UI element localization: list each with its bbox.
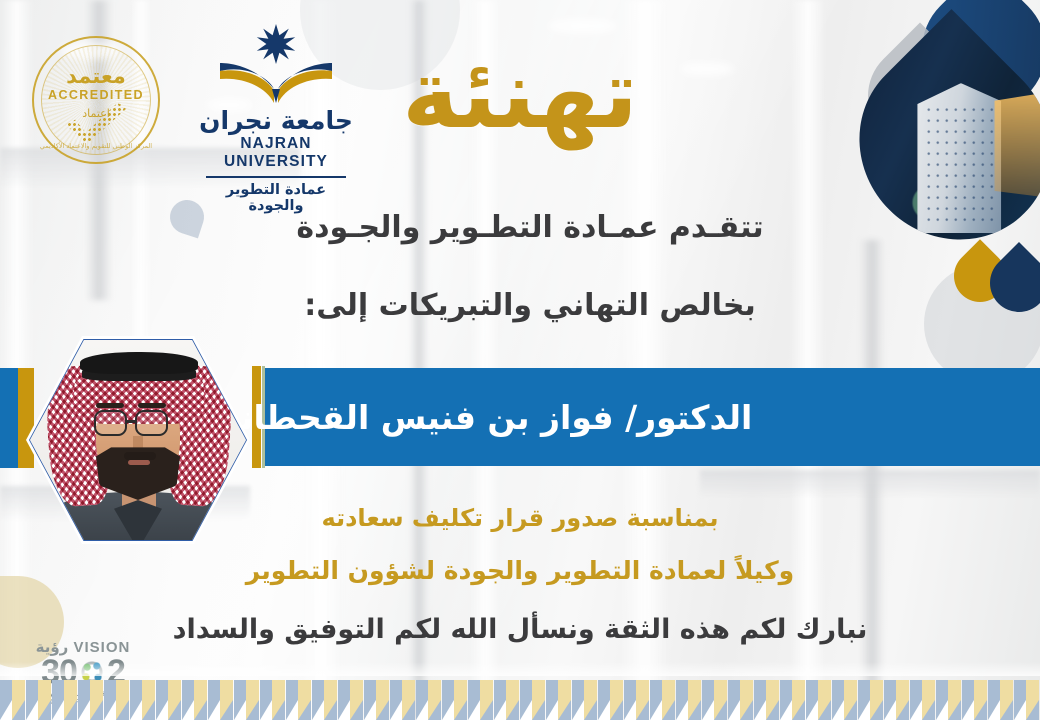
congratulation-card: معتمد ACCREDITED اعتماد المركز الوطني لل… <box>0 0 1040 720</box>
headline-line-2: بخالص التهاني والتبريكات إلى: <box>140 288 920 323</box>
background-ceiling-light <box>548 18 618 34</box>
pattern-unit <box>442 676 468 720</box>
pattern-unit <box>260 676 286 720</box>
portrait-igal <box>80 352 198 374</box>
building-windows <box>924 104 995 227</box>
pattern-unit <box>988 676 1014 720</box>
pattern-unit <box>624 676 650 720</box>
pattern-unit <box>520 676 546 720</box>
pattern-unit <box>650 676 676 720</box>
pattern-unit <box>0 676 26 720</box>
pattern-unit <box>754 676 780 720</box>
pattern-unit <box>858 676 884 720</box>
bottom-fade <box>0 662 1040 676</box>
pattern-unit <box>806 676 832 720</box>
body-gold-line-1: بمناسبة صدور قرار تكليف سعادته <box>120 504 920 532</box>
pattern-unit <box>468 676 494 720</box>
background-streak <box>790 0 826 720</box>
portrait-glasses-bridge <box>127 420 135 423</box>
pattern-unit <box>832 676 858 720</box>
pattern-unit <box>390 676 416 720</box>
pattern-unit <box>884 676 910 720</box>
page-title-calligraphy: تهنئة <box>300 34 740 154</box>
pattern-unit <box>910 676 936 720</box>
pattern-unit <box>962 676 988 720</box>
pattern-unit <box>416 676 442 720</box>
pattern-unit <box>26 676 52 720</box>
deanship-name: عمادة التطوير والجودة <box>196 182 356 214</box>
pattern-unit <box>286 676 312 720</box>
pattern-unit <box>156 676 182 720</box>
top-right-decoration <box>850 0 1040 304</box>
pattern-unit <box>104 676 130 720</box>
portrait-eyebrow-left <box>96 403 124 408</box>
headline-line-1: تتقـدم عمـادة التطـوير والجـودة <box>140 210 920 245</box>
pattern-unit <box>52 676 78 720</box>
pattern-unit <box>338 676 364 720</box>
portrait-lips <box>128 460 150 465</box>
building-glow <box>994 90 1040 200</box>
badge-title-arabic: معتمد <box>32 64 160 88</box>
pattern-unit <box>78 676 104 720</box>
badge-title-english: ACCREDITED <box>32 88 160 102</box>
pattern-unit <box>312 676 338 720</box>
pattern-unit <box>546 676 572 720</box>
pattern-unit <box>728 676 754 720</box>
body-gold-line-2: وكيلاً لعمادة التطوير والجودة لشؤون التط… <box>120 556 920 585</box>
pattern-unit <box>676 676 702 720</box>
pattern-unit <box>130 676 156 720</box>
pattern-unit <box>598 676 624 720</box>
pattern-unit <box>702 676 728 720</box>
closing-line: نبارك لكم هذه الثقة ونسأل الله لكم التوف… <box>120 614 920 645</box>
bottom-geometric-border <box>0 676 1040 720</box>
portrait-glasses-left <box>94 410 127 436</box>
building-tower <box>917 83 1001 233</box>
badge-label-arabic: اعتماد <box>32 107 160 120</box>
pattern-unit <box>936 676 962 720</box>
pattern-unit <box>1014 676 1040 720</box>
pattern-unit <box>364 676 390 720</box>
badge-authority-text: المركز الوطني للتقويم والاعتماد الأكاديم… <box>32 142 160 150</box>
background-ceiling-slab <box>700 470 1040 498</box>
accreditation-badge: معتمد ACCREDITED اعتماد المركز الوطني لل… <box>32 36 160 164</box>
logo-divider <box>206 176 346 178</box>
portrait-glasses-right <box>135 410 168 436</box>
pattern-unit <box>234 676 260 720</box>
portrait-moustache <box>124 452 156 460</box>
pattern-unit <box>780 676 806 720</box>
pattern-unit <box>208 676 234 720</box>
pattern-unit <box>494 676 520 720</box>
pattern-unit <box>572 676 598 720</box>
pattern-unit <box>182 676 208 720</box>
star-icon <box>253 24 299 64</box>
portrait-eyebrow-right <box>138 403 166 408</box>
